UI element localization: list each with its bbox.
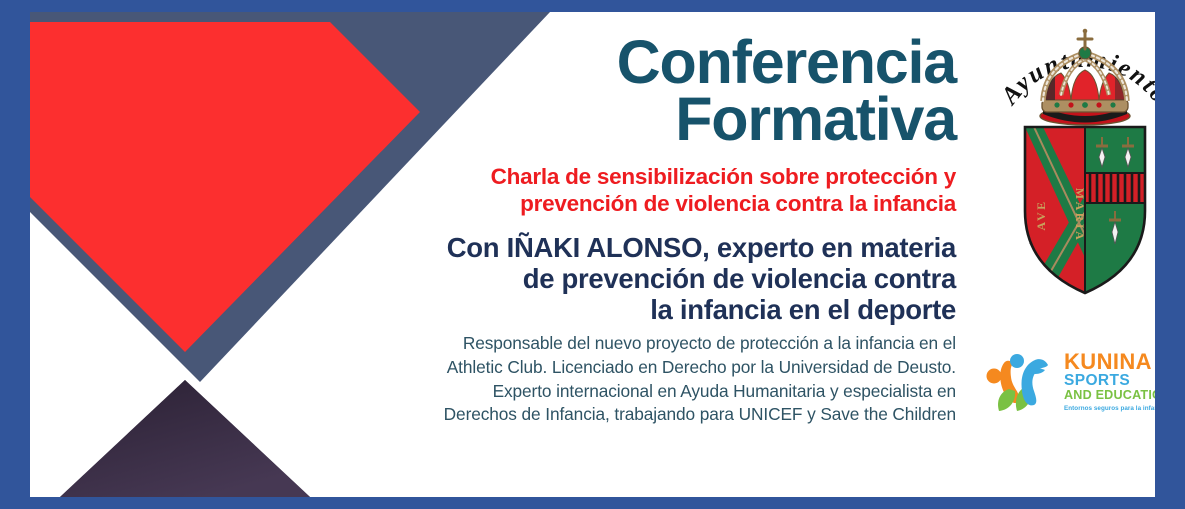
bio-line-1: Responsable del nuevo proyecto de protec… [360, 332, 956, 356]
poster-canvas: Conferencia Formativa Charla de sensibil… [30, 12, 1155, 497]
kunina-education-label: AND EDUCATION [1064, 389, 1155, 403]
shield-word-ave: AVE [1034, 199, 1048, 230]
subtitle-block: Charla de sensibilización sobre protecci… [360, 147, 965, 217]
kunina-figures-icon [978, 343, 1056, 421]
speaker-line-1: Con IÑAKI ALONSO, experto en materia [360, 232, 956, 263]
page-title: Conferencia Formativa [360, 12, 965, 147]
heraldic-shield: AVE MARIA [1025, 127, 1145, 297]
ayuntamiento-daganzo-crest-logo: Ayuntamiento Daganzo [985, 15, 1155, 315]
speaker-heading: Con IÑAKI ALONSO, experto en materia de … [360, 217, 965, 325]
title-line-2: Formativa [360, 91, 956, 148]
speaker-line-3: la infancia en el deporte [360, 294, 956, 325]
subtitle-line-1: Charla de sensibilización sobre protecci… [360, 164, 956, 190]
speaker-line-2: de prevención de violencia contra [360, 263, 956, 294]
kunina-tagline: Entornos seguros para la infancia [1064, 403, 1155, 413]
kunina-sports-label: SPORTS [1064, 373, 1155, 389]
bio-line-4: Derechos de Infancia, trabajando para UN… [360, 403, 956, 427]
royal-crown-icon [1040, 29, 1130, 125]
poster-root: Conferencia Formativa Charla de sensibil… [0, 0, 1185, 509]
poster-content: Conferencia Formativa Charla de sensibil… [360, 12, 965, 497]
speaker-bio: Responsable del nuevo proyecto de protec… [360, 325, 965, 427]
bio-line-2: Athletic Club. Licenciado en Derecho por… [360, 356, 956, 380]
kunina-sports-education-logo: KUNINA SPORTS AND EDUCATION Entornos seg… [978, 337, 1155, 427]
bio-line-3: Experto internacional en Ayuda Humanitar… [360, 380, 956, 404]
kunina-name: KUNINA [1064, 351, 1155, 373]
subtitle-line-2: prevención de violencia contra la infanc… [360, 191, 956, 217]
dark-triangle-overlay [60, 380, 310, 497]
kunina-wordmark: KUNINA SPORTS AND EDUCATION Entornos seg… [1056, 351, 1155, 413]
